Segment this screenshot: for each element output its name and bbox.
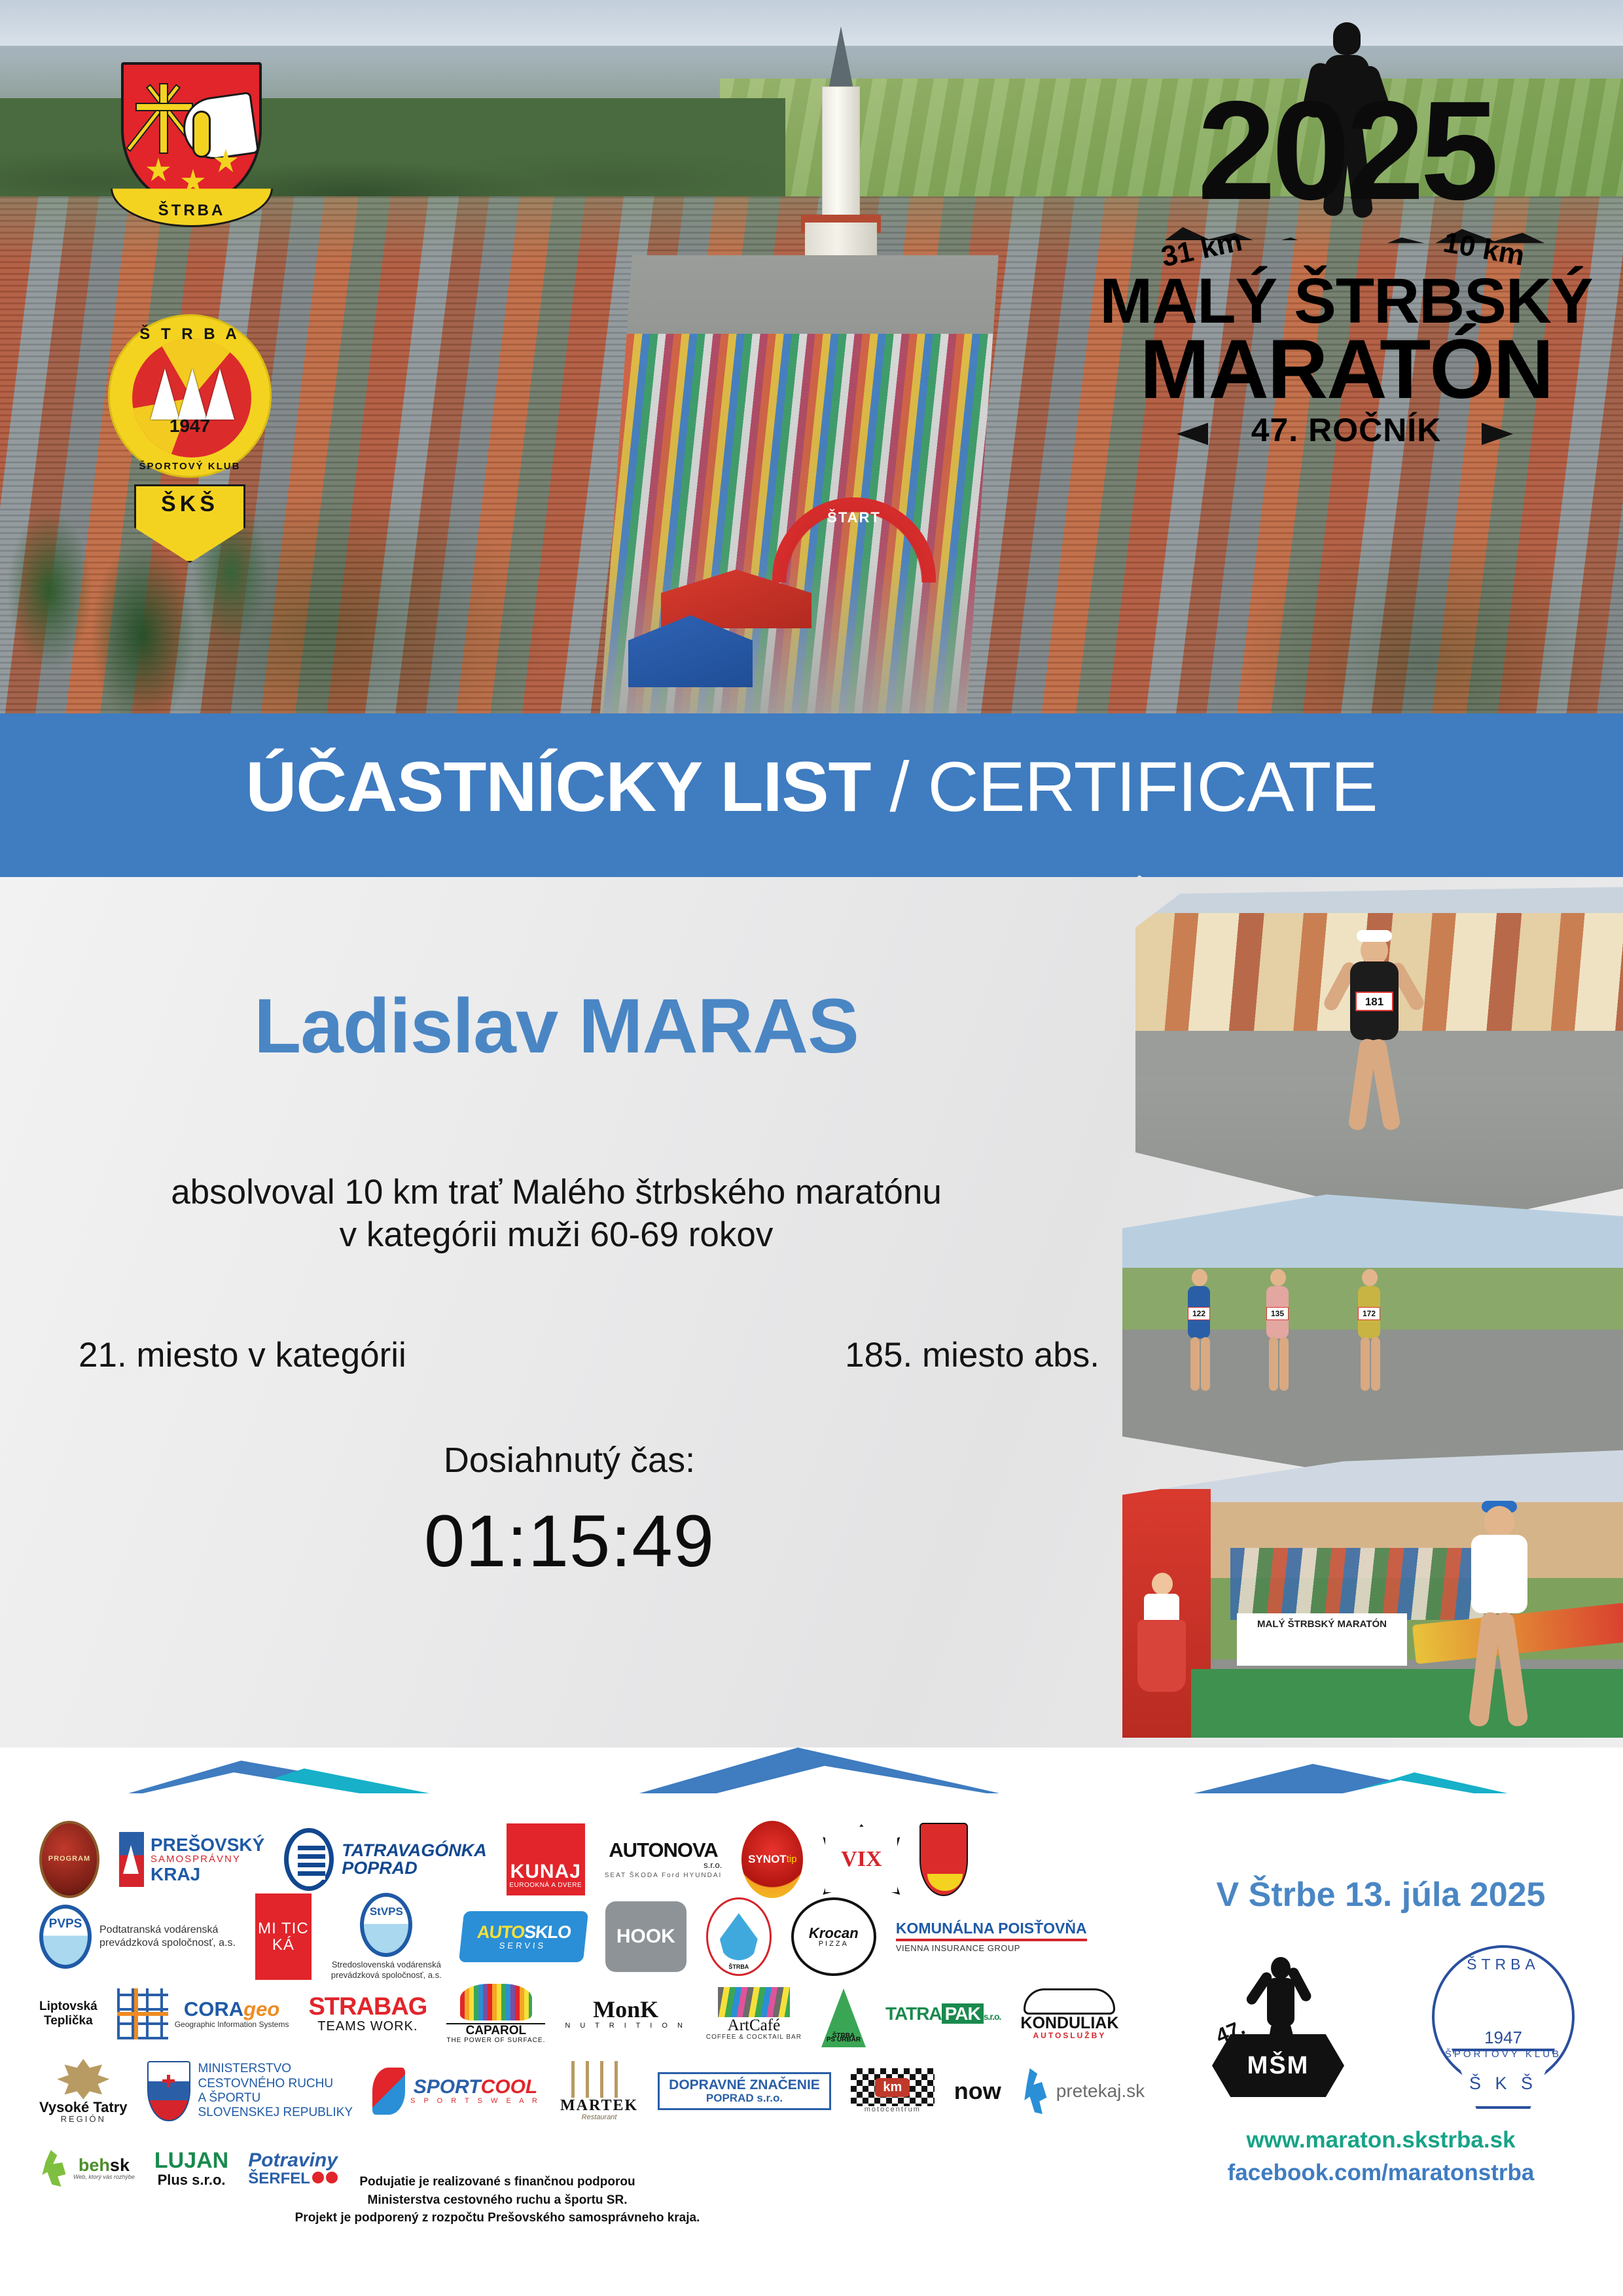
banner-title: ÚČASTNÍCKY LIST / CERTIFICATE — [0, 751, 1623, 822]
sponsor-synottip[interactable]: SYNOTtip — [741, 1829, 803, 1890]
caparol-elephant-icon — [460, 1984, 532, 2020]
sponsor-pretekaj[interactable]: pretekaj.sk — [1021, 2061, 1145, 2121]
sks-stamp-top: ŠTRBA — [1423, 1956, 1584, 1973]
placements: 21. miesto v kategórii 185. miesto abs. — [79, 1335, 1099, 1375]
cutlery-icon — [571, 2061, 628, 2098]
pretekaj-name: pretekaj.sk — [1056, 2081, 1145, 2100]
place-category: 21. miesto v kategórii — [79, 1335, 406, 1375]
disclaimer-line1: Podujatie je realizované s finančnou pod… — [39, 2173, 955, 2191]
sponsor-sportcool[interactable]: SPORTCOOL S P O R T S W E A R — [372, 2061, 541, 2121]
autosklo-n1: AUTO — [476, 1922, 525, 1942]
chamois-icon — [57, 2059, 109, 2100]
martek-sub: Restaurant — [560, 2114, 638, 2122]
banner-title-separator: / — [870, 747, 927, 826]
artcafe-bars-icon — [718, 1987, 790, 2017]
psk-line2: SAMOSPRÁVNY — [151, 1854, 264, 1865]
min-line4: SLOVENSKEJ REPUBLIKY — [198, 2106, 353, 2120]
photo2-bib-b: 135 — [1266, 1307, 1289, 1320]
krocan-sub: PIZZA — [819, 1941, 849, 1948]
sks-club-logo: Š T R B A 1947 ŠPORTOVÝ KLUB — [108, 314, 272, 478]
liptovska-teplicka-crest-icon — [919, 1823, 968, 1896]
sponsor-komunalna-poistovna[interactable]: KOMUNÁLNA POISŤOVŇA VIENNA INSURANCE GRO… — [896, 1907, 1087, 1967]
sks-stamp-bottom: Š K Š — [1423, 2073, 1584, 2094]
sponsor-strabag[interactable]: STRABAG TEAMS WORK. — [308, 1984, 427, 2044]
slovakia-crest-icon — [147, 2061, 190, 2121]
photo-collage: 181 122 135 172 MALÝ ŠTRB — [1122, 887, 1623, 1738]
coa-label: ŠTRBA — [113, 202, 271, 220]
photo2-bib-c: 172 — [1358, 1307, 1380, 1320]
sks-stamp-logo: ŠTRBA 1947 ŠPORTOVÝ KLUB Š K Š — [1423, 1945, 1584, 2109]
sks-bottom-text: ŠPORTOVÝ KLUB — [110, 461, 270, 472]
autonova-brands: SEAT ŠKODA Ford HYUNDAI — [605, 1873, 722, 1880]
sponsor-konduliak[interactable]: KONDULIAK AUTOSLUŽBY — [1020, 1984, 1118, 2044]
description: absolvoval 10 km trať Malého štrbského m… — [0, 1172, 1113, 1256]
artcafe-sub: COFFEE & COCKTAIL BAR — [706, 2034, 802, 2041]
sponsor-km-motocentrum[interactable]: km motocentrum — [851, 2061, 935, 2121]
corageo-n2: geo — [243, 1998, 279, 2020]
checkered-flag-icon: km — [851, 2068, 935, 2106]
dz-line2: POPRAD s.r.o. — [669, 2092, 820, 2104]
sponsor-miticka[interactable]: MI TIC KÁ — [255, 1907, 312, 1967]
autosklo-n2: SKLO — [523, 1922, 571, 1942]
event-year-row: 2025 — [1088, 20, 1605, 223]
stvps-line2: prevádzková spoločnosť, a.s. — [331, 1970, 442, 1981]
sponsor-ministerstvo[interactable]: MINISTERSTVO CESTOVNÉHO RUCHU A ŠPORTU S… — [147, 2061, 353, 2121]
lujan-line1: LUJAN — [154, 2149, 228, 2173]
komunalna-line1: KOMUNÁLNA POISŤOVŇA — [896, 1920, 1087, 1936]
photo-finish-male: MALÝ ŠTRBSKÝ MARATÓN — [1122, 1450, 1623, 1738]
banner-title-light: CERTIFICATE — [928, 747, 1378, 826]
tatravagonka-line2: POPRAD — [342, 1859, 486, 1877]
sponsor-caparol[interactable]: CAPAROL THE POWER OF SURFACE. — [446, 1984, 545, 2044]
certificate-banner: ÚČASTNÍCKY LIST / CERTIFICATE — [0, 713, 1623, 903]
artcafe-name: ArtCafé — [706, 2017, 802, 2034]
corageo-n1: CORA — [184, 1998, 243, 2020]
stvps-line1: Stredoslovenská vodárenská — [331, 1960, 442, 1970]
photo3-banner-text: MALÝ ŠTRBSKÝ MARATÓN — [1237, 1613, 1407, 1666]
edition-row: 47. ROČNÍK — [1088, 411, 1605, 454]
sponsor-now[interactable]: now — [954, 2061, 1001, 2121]
sponsor-tatravagonka[interactable]: TATRAVAGÓNKA POPRAD — [284, 1829, 486, 1890]
pvps-line2: prevádzková spoločnosť, a.s. — [99, 1937, 236, 1950]
autonova-name: AUTONOVA — [605, 1840, 722, 1861]
event-edition: 47. ROČNÍK — [1088, 411, 1605, 449]
sponsor-vysoke-tatry[interactable]: Vysoké Tatry REGIÓN — [39, 2061, 128, 2121]
kunaj-name: KUNAJ — [510, 1861, 581, 1882]
disclaimer-line3: Projekt je podporený z rozpočtu Prešovsk… — [39, 2209, 955, 2227]
km-sub: motocentrum — [851, 2106, 935, 2114]
sponsor-liptovska-teplicka-crest[interactable] — [919, 1829, 968, 1890]
now-name: now — [954, 2079, 1001, 2104]
vt-line1: Vysoké Tatry — [39, 2100, 128, 2115]
sks-stamp-year: 1947 — [1423, 2028, 1584, 2048]
sks-shield-label: ŠKŠ — [161, 492, 219, 517]
komunalna-line2: VIENNA INSURANCE GROUP — [896, 1944, 1087, 1953]
place-absolute: 185. miesto abs. — [845, 1335, 1099, 1375]
monk-sub: N U T R I T I O N — [565, 2022, 687, 2030]
website-link[interactable]: www.maraton.skstrba.sk — [1152, 2127, 1610, 2153]
participant-name: Ladislav MARAS — [0, 982, 1113, 1071]
sponsor-vix[interactable]: VIX — [823, 1829, 900, 1890]
corageo-sub: Geographic Information Systems — [175, 2020, 289, 2029]
arrow-right-icon — [1482, 423, 1513, 445]
tatrapak-n2: PAK — [942, 2003, 984, 2024]
runners-icon — [1021, 2068, 1051, 2114]
tatravagonka-line1: TATRAVAGÓNKA — [342, 1842, 486, 1859]
description-line1: absolvoval 10 km trať Malého štrbského m… — [0, 1172, 1113, 1214]
km-name: km — [875, 2078, 910, 2097]
description-line2: v kategórii muži 60-69 rokov — [0, 1214, 1113, 1257]
monk-name: MonK — [565, 1998, 687, 2022]
beh-n1: beh — [79, 2155, 110, 2175]
caparol-name: CAPAROL — [446, 2023, 545, 2037]
sponsor-liptovska-teplicka[interactable]: Liptovská Teplička — [39, 1984, 98, 2044]
sponsor-dopravne-znacenie[interactable]: DOPRAVNÉ ZNAČENIE POPRAD s.r.o. — [658, 2061, 831, 2121]
distance-long: 31 km — [1158, 225, 1245, 274]
photo-runners-hill: 122 135 172 — [1122, 1194, 1623, 1476]
sponsor-logo-grid: PROGRAM PREŠOVSKÝ SAMOSPRÁVNY KRAJ TATRA… — [39, 1829, 1152, 2198]
sponsor-krocan-pizza[interactable]: Krocan PIZZA — [791, 1907, 876, 1967]
sponsor-martek[interactable]: MARTEK Restaurant — [560, 2061, 638, 2121]
sportcool-n2: COOL — [481, 2076, 538, 2098]
sponsor-program-trencin[interactable]: PROGRAM — [39, 1829, 99, 1890]
pd-strba-cap: ŠTRBA — [728, 1964, 749, 1970]
car-outline-icon — [1024, 1988, 1115, 2015]
synot-name: SYNOT — [748, 1854, 787, 1865]
event-title-line2: MARATÓN — [1088, 331, 1605, 408]
sponsor-artcafe[interactable]: ArtCafé COFFEE & COCKTAIL BAR — [706, 1984, 802, 2044]
kunaj-sub: EUROOKNÁ A DVERE — [509, 1882, 582, 1890]
banner-title-bold: ÚČASTNÍCKY LIST — [245, 747, 870, 826]
krocan-name: Krocan — [809, 1926, 859, 1941]
sponsor-pd-strba[interactable]: ŠTRBA — [706, 1907, 772, 1967]
start-label: ŠTART — [827, 509, 881, 526]
sponsor-autonova[interactable]: AUTONOVA s.r.o. SEAT ŠKODA Ford HYUNDAI — [605, 1829, 722, 1890]
stvps-abbr: StVPS — [370, 1906, 403, 1918]
lt-line1: Liptovská — [39, 2000, 98, 2014]
event-title-block: 2025 31 km 10 km MALÝ ŠTRBSKÝ MARATÓN 47… — [1088, 20, 1605, 454]
sponsor-monk-nutrition[interactable]: MonK N U T R I T I O N — [565, 1984, 687, 2044]
sponsor-ps-urbar-strba[interactable]: PS URBÁR ŠTRBA — [821, 1984, 866, 2044]
dz-line1: DOPRAVNÉ ZNAČENIE — [669, 2078, 820, 2092]
tatravagonka-ring-icon — [284, 1828, 334, 1891]
konduliak-name: KONDULIAK — [1020, 2015, 1118, 2032]
tatrapak-sub: s.r.o. — [984, 2011, 1001, 2022]
msm-logo: 47. MŠM — [1203, 1957, 1353, 2101]
sponsor-presovsky-kraj[interactable]: PREŠOVSKÝ SAMOSPRÁVNY KRAJ — [119, 1829, 264, 1890]
sponsor-tatrapak[interactable]: TATRAPAKs.r.o. — [885, 1984, 1001, 2044]
sponsor-hook[interactable]: HOOK — [605, 1907, 687, 1967]
sponsor-stvps[interactable]: StVPS Stredoslovenská vodárenská prevádz… — [331, 1907, 442, 1967]
event-date: V Štrbe 13. júla 2025 — [1152, 1875, 1610, 1914]
sportcool-swoosh-icon — [372, 2068, 405, 2115]
presov-flag-icon — [119, 1832, 144, 1887]
lt-line2: Teplička — [39, 2014, 98, 2028]
psk-line3: KRAJ — [151, 1865, 264, 1884]
min-line2: CESTOVNÉHO RUCHU — [198, 2077, 353, 2091]
strabag-sub: TEAMS WORK. — [308, 2020, 427, 2034]
vt-line2: REGIÓN — [39, 2115, 128, 2124]
psk-line1: PREŠOVSKÝ — [151, 1835, 264, 1854]
miticka-name: MI TIC KÁ — [255, 1893, 312, 1980]
strba-coat-of-arms: ŠTRBA — [121, 62, 262, 232]
sks-top-text: Š T R B A — [110, 325, 270, 344]
martek-name: MARTEK — [560, 2098, 638, 2114]
sponsor-corageo[interactable]: CORAgeo Geographic Information Systems — [117, 1984, 289, 2044]
caparol-sub: THE POWER OF SURFACE. — [446, 2037, 545, 2045]
distances-row: 31 km 10 km — [1088, 219, 1605, 270]
arrow-left-icon — [1177, 423, 1208, 445]
corageo-grid-icon — [117, 1988, 168, 2039]
autonova-sub: s.r.o. — [605, 1861, 722, 1870]
autosklo-sub: SERVIS — [499, 1941, 546, 1950]
sportcool-sub: S P O R T S W E A R — [410, 2098, 541, 2106]
sponsor-kunaj[interactable]: KUNAJ EUROOKNÁ A DVERE — [507, 1829, 585, 1890]
pvps-line1: Podtatranská vodárenská — [99, 1924, 236, 1937]
photo-finish-female: 181 — [1135, 887, 1623, 1227]
vix-name: VIX — [841, 1848, 882, 1871]
sponsor-autosklo-servis[interactable]: AUTOSKLO SERVIS — [461, 1907, 586, 1967]
time-label: Dosiahnutý čas: — [0, 1440, 1139, 1480]
sportcool-n1: SPORT — [414, 2076, 481, 2098]
photo1-bib: 181 — [1355, 992, 1393, 1011]
disclaimer-line2: Ministerstva cestovného ruchu a športu S… — [39, 2191, 955, 2210]
funding-disclaimer: Podujatie je realizované s finančnou pod… — [39, 2173, 955, 2227]
min-line1: MINISTERSTVO — [198, 2062, 353, 2076]
synot-accent: tip — [787, 1854, 797, 1865]
konduliak-sub: AUTOSLUŽBY — [1020, 2032, 1118, 2040]
photo2-bib-a: 122 — [1188, 1307, 1210, 1320]
event-year: 2025 — [1088, 80, 1605, 221]
beh-n2: sk — [110, 2155, 130, 2175]
msm-abbr: MŠM — [1247, 2052, 1310, 2080]
water-drop-icon — [720, 1913, 758, 1960]
facebook-link[interactable]: facebook.com/maratonstrba — [1152, 2160, 1610, 2186]
sks-year: 1947 — [110, 416, 270, 437]
strabag-name: STRABAG — [308, 1994, 427, 2020]
tatrapak-n1: TATRA — [885, 2003, 942, 2024]
sponsor-program-trencin-label: PROGRAM — [48, 1856, 90, 1863]
pvps-abbr: PVPS — [49, 1918, 82, 1931]
min-line3: A ŠPORTU — [198, 2091, 353, 2106]
potraviny-line1: Potraviny — [248, 2150, 338, 2171]
sponsor-area: PROGRAM PREŠOVSKÝ SAMOSPRÁVNY KRAJ TATRA… — [0, 1793, 1623, 2296]
sponsor-pvps[interactable]: PVPS Podtatranská vodárenská prevádzková… — [39, 1907, 236, 1967]
hook-name: HOOK — [605, 1901, 687, 1972]
mountain-peaks-icon — [148, 354, 237, 420]
sks-stamp-mid: ŠPORTOVÝ KLUB — [1423, 2049, 1584, 2060]
footer-right-column: V Štrbe 13. júla 2025 47. MŠM ŠTRBA 1947… — [1152, 1793, 1610, 2296]
time-value: 01:15:49 — [0, 1499, 1139, 1583]
